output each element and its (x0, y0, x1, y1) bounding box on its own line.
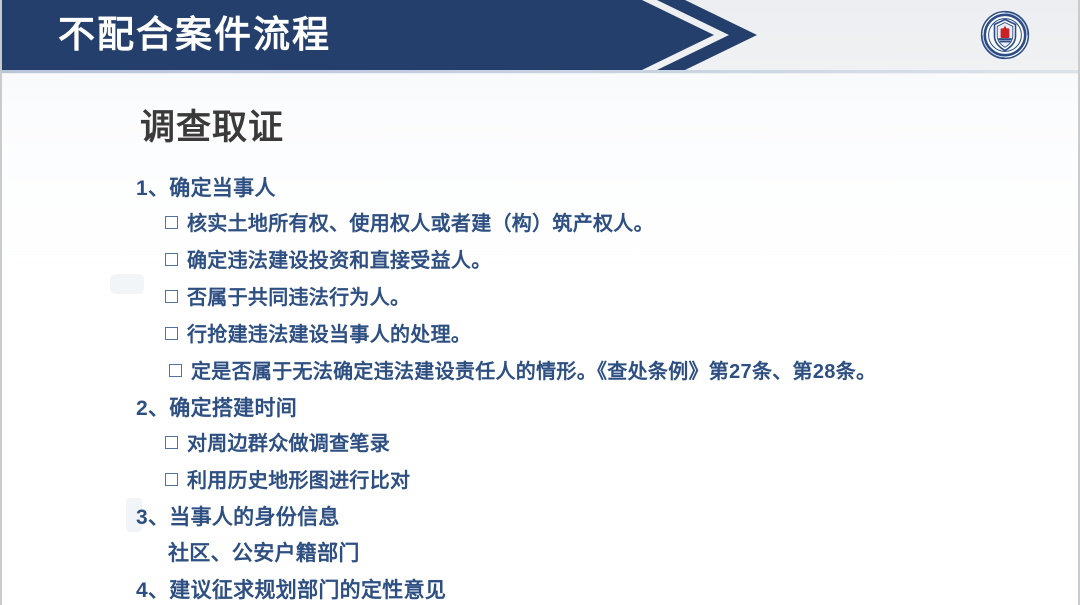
list-item-text: 对周边群众做调查笔录 (187, 433, 390, 455)
section-heading-3: 3、当事人的身份信息 (2, 500, 1080, 535)
section-number-3: 3、 (136, 500, 169, 535)
checkbox-square-icon (165, 436, 178, 449)
list-item-text: 核实土地所有权、使用权人或者建（构）筑产权人。 (187, 213, 654, 235)
section-number-2: 2、 (136, 391, 169, 426)
list-item-text: 确定违法建设投资和直接受益人。 (187, 250, 492, 272)
header-title: 不配合案件流程 (58, 11, 331, 59)
list-item: 行抢建违法建设当事人的处理。 (2, 317, 1080, 354)
page-title: 调查取证 (140, 106, 284, 150)
header-underline-divider (2, 70, 1080, 73)
section-heading-4: 4、建议征求规划部门的定性意见 (2, 573, 1080, 605)
list-item: 否属于共同违法行为人。 (2, 280, 1080, 317)
section-label-4: 建议征求规划部门的定性意见 (169, 579, 446, 602)
list-item: 对周边群众做调查笔录 (2, 426, 1080, 463)
list-item: 定是否属于无法确定违法建设责任人的情形。《查处条例》第27条、第28条。 (2, 354, 1080, 391)
section-heading-1: 1、确定当事人 (2, 171, 1080, 206)
list-item-text: 社区、公安户籍部门 (168, 542, 360, 565)
section-label-2: 确定搭建时间 (169, 397, 297, 420)
list-item: 核实土地所有权、使用权人或者建（构）筑产权人。 (2, 206, 1080, 243)
checkbox-square-icon (165, 290, 178, 303)
checkbox-square-icon (165, 253, 178, 266)
list-item-text: 定是否属于无法确定违法建设责任人的情形。《查处条例》第27条、第28条。 (191, 361, 876, 383)
slide-canvas: 不配合案件流程 调查取证 (0, 0, 1080, 605)
list-item: 社区、公安户籍部门 (2, 535, 1080, 573)
checkbox-square-icon (165, 216, 178, 229)
section-number-4: 4、 (136, 573, 169, 605)
section-heading-2: 2、确定搭建时间 (2, 391, 1080, 426)
checkbox-square-icon (169, 364, 182, 377)
slide-body: 调查取证 1、确定当事人 核实土地所有权、使用权人或者建（构）筑产权人。 确定违… (2, 74, 1080, 605)
city-administration-emblem-icon (980, 10, 1030, 60)
list-item-text: 行抢建违法建设当事人的处理。 (187, 324, 471, 346)
section-label-1: 确定当事人 (169, 177, 276, 200)
slide-header: 不配合案件流程 (2, 0, 1080, 74)
section-label-3: 当事人的身份信息 (169, 506, 339, 529)
list-item: 确定违法建设投资和直接受益人。 (2, 243, 1080, 280)
checkbox-square-icon (165, 327, 178, 340)
list-item-text: 否属于共同违法行为人。 (187, 287, 410, 309)
list-item-text: 利用历史地形图进行比对 (187, 470, 410, 492)
section-number-1: 1、 (136, 171, 169, 206)
list-item: 利用历史地形图进行比对 (2, 463, 1080, 500)
checkbox-square-icon (165, 473, 178, 486)
outline-list: 1、确定当事人 核实土地所有权、使用权人或者建（构）筑产权人。 确定违法建设投资… (2, 171, 1080, 605)
